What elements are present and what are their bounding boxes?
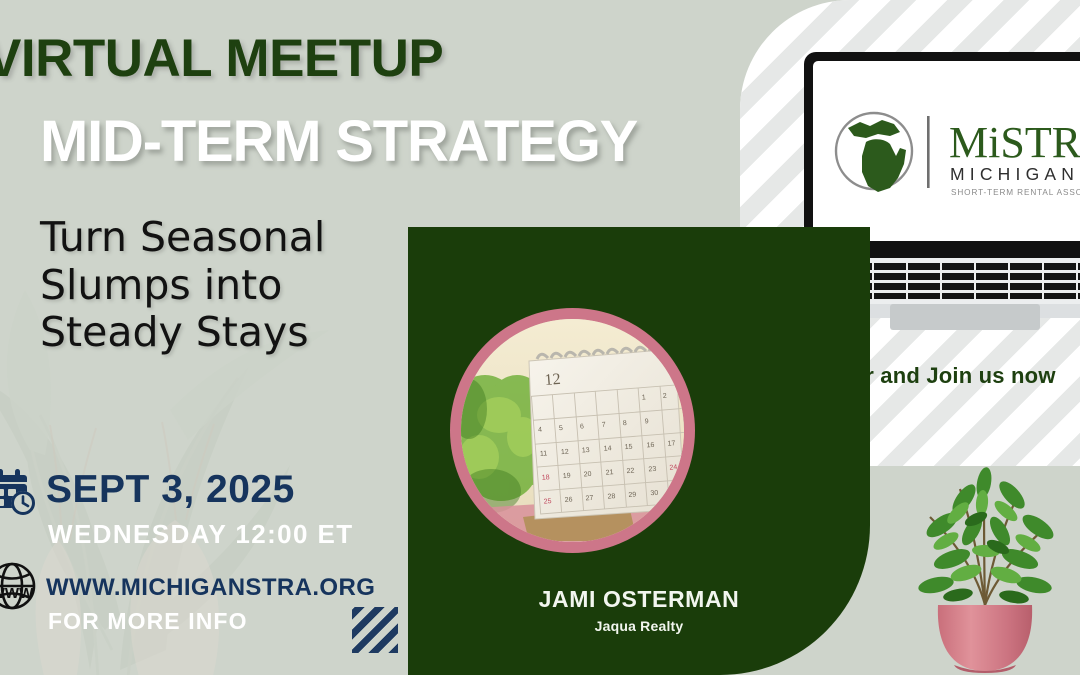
speaker-name: JAMI OSTERMAN <box>408 586 870 613</box>
calendar-month: 12 <box>544 371 561 389</box>
svg-text:11: 11 <box>540 450 548 458</box>
event-url[interactable]: WWW.MICHIGANSTRA.ORG <box>46 574 375 602</box>
svg-text:2: 2 <box>663 393 668 400</box>
kicker-text: VIRTUAL MEETUP <box>0 28 443 89</box>
calendar-photo: 12 12 456 <box>461 319 684 542</box>
svg-text:15: 15 <box>624 444 632 452</box>
tagline-line-3: Steady Stays <box>40 309 380 357</box>
speaker-photo-ring: 12 12 456 <box>450 308 695 553</box>
svg-text:12: 12 <box>561 449 569 457</box>
event-time: WEDNESDAY 12:00 ET <box>48 519 354 550</box>
calendar-photo-svg: 12 12 456 <box>461 319 684 542</box>
tagline-line-1: Turn Seasonal <box>40 214 380 262</box>
svg-text:4: 4 <box>538 427 543 434</box>
svg-text:16: 16 <box>646 442 654 450</box>
svg-text:24: 24 <box>669 464 677 472</box>
svg-text:9: 9 <box>645 418 650 425</box>
svg-text:13: 13 <box>582 447 590 455</box>
tagline-line-2: Slumps into <box>40 262 380 310</box>
svg-text:17: 17 <box>667 440 675 448</box>
svg-text:25: 25 <box>544 498 552 506</box>
svg-text:26: 26 <box>564 496 572 504</box>
svg-text:8: 8 <box>623 420 628 427</box>
svg-text:14: 14 <box>604 445 612 453</box>
svg-text:27: 27 <box>585 495 593 503</box>
svg-text:19: 19 <box>563 473 571 481</box>
event-date: SEPT 3, 2025 <box>46 468 295 512</box>
svg-text:22: 22 <box>626 467 634 475</box>
svg-text:30: 30 <box>650 490 658 498</box>
svg-text:7: 7 <box>602 422 607 429</box>
svg-text:29: 29 <box>628 491 636 499</box>
svg-text:28: 28 <box>607 493 615 501</box>
diagonal-stripes-square <box>352 607 398 653</box>
poster-canvas: MiSTRA MICHIGAN SHORT-TERM RENTAL ASSOCI… <box>0 0 1080 675</box>
logo-tagline: SHORT-TERM RENTAL ASSOCIATION <box>951 188 1080 197</box>
svg-text:1: 1 <box>642 394 647 401</box>
tagline: Turn Seasonal Slumps into Steady Stays <box>40 214 380 357</box>
svg-text:18: 18 <box>542 474 550 482</box>
svg-text:WWW: WWW <box>0 585 34 602</box>
svg-text:5: 5 <box>559 425 564 432</box>
svg-text:6: 6 <box>580 423 585 430</box>
logo-brand: MiSTRA <box>949 118 1080 167</box>
svg-text:20: 20 <box>583 471 591 479</box>
svg-text:21: 21 <box>605 469 613 477</box>
calendar-clock-icon <box>0 468 40 520</box>
more-info-label: FOR MORE INFO <box>48 608 248 635</box>
speaker-organization: Jaqua Realty <box>408 618 870 634</box>
logo-state: MICHIGAN <box>950 164 1079 184</box>
globe-icon: WWW <box>0 560 39 612</box>
page-title: MID-TERM STRATEGY <box>40 108 637 175</box>
svg-text:23: 23 <box>648 466 656 474</box>
potted-plant <box>880 455 1080 675</box>
